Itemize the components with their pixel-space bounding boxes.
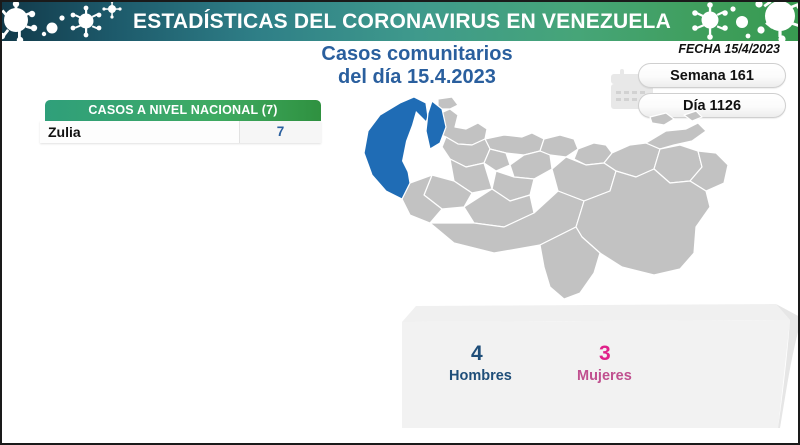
women-count: 3 [599, 342, 611, 366]
national-cases-header: CASOS A NIVEL NACIONAL (7) [45, 100, 321, 121]
page-title: ESTADÍSTICAS DEL CORONAVIRUS EN VENEZUEL… [2, 2, 800, 41]
table-cell-casos: 7 [239, 121, 321, 143]
subtitle: Casos comunitarios del día 15.4.2023 [247, 43, 587, 89]
state-cojedes[interactable] [510, 151, 552, 179]
men-label: Hombres [449, 368, 512, 384]
island-small [684, 111, 702, 121]
infographic-page: ESTADÍSTICAS DEL CORONAVIRUS EN VENEZUEL… [0, 0, 800, 445]
gender-panel: 4 Hombres 3 Mujeres [390, 302, 800, 432]
table-row: Zulia 7 [40, 121, 321, 143]
venezuela-map[interactable] [354, 87, 800, 302]
subtitle-line-1: Casos comunitarios [247, 43, 587, 66]
subtitle-line-2: del día 15.4.2023 [247, 66, 587, 89]
table-cell-estado: Zulia [40, 121, 239, 143]
state-falcon-peninsula[interactable] [438, 97, 458, 109]
semana-badge[interactable]: Semana 161 [638, 63, 786, 88]
state-nueva-esparta[interactable] [650, 113, 674, 125]
women-label: Mujeres [577, 368, 632, 384]
state-sucre[interactable] [646, 123, 706, 149]
header-band: ESTADÍSTICAS DEL CORONAVIRUS EN VENEZUEL… [2, 2, 800, 41]
fecha-label: FECHA 15/4/2023 [678, 42, 780, 56]
venezuela-map-svg [354, 87, 800, 302]
men-count: 4 [471, 342, 483, 366]
